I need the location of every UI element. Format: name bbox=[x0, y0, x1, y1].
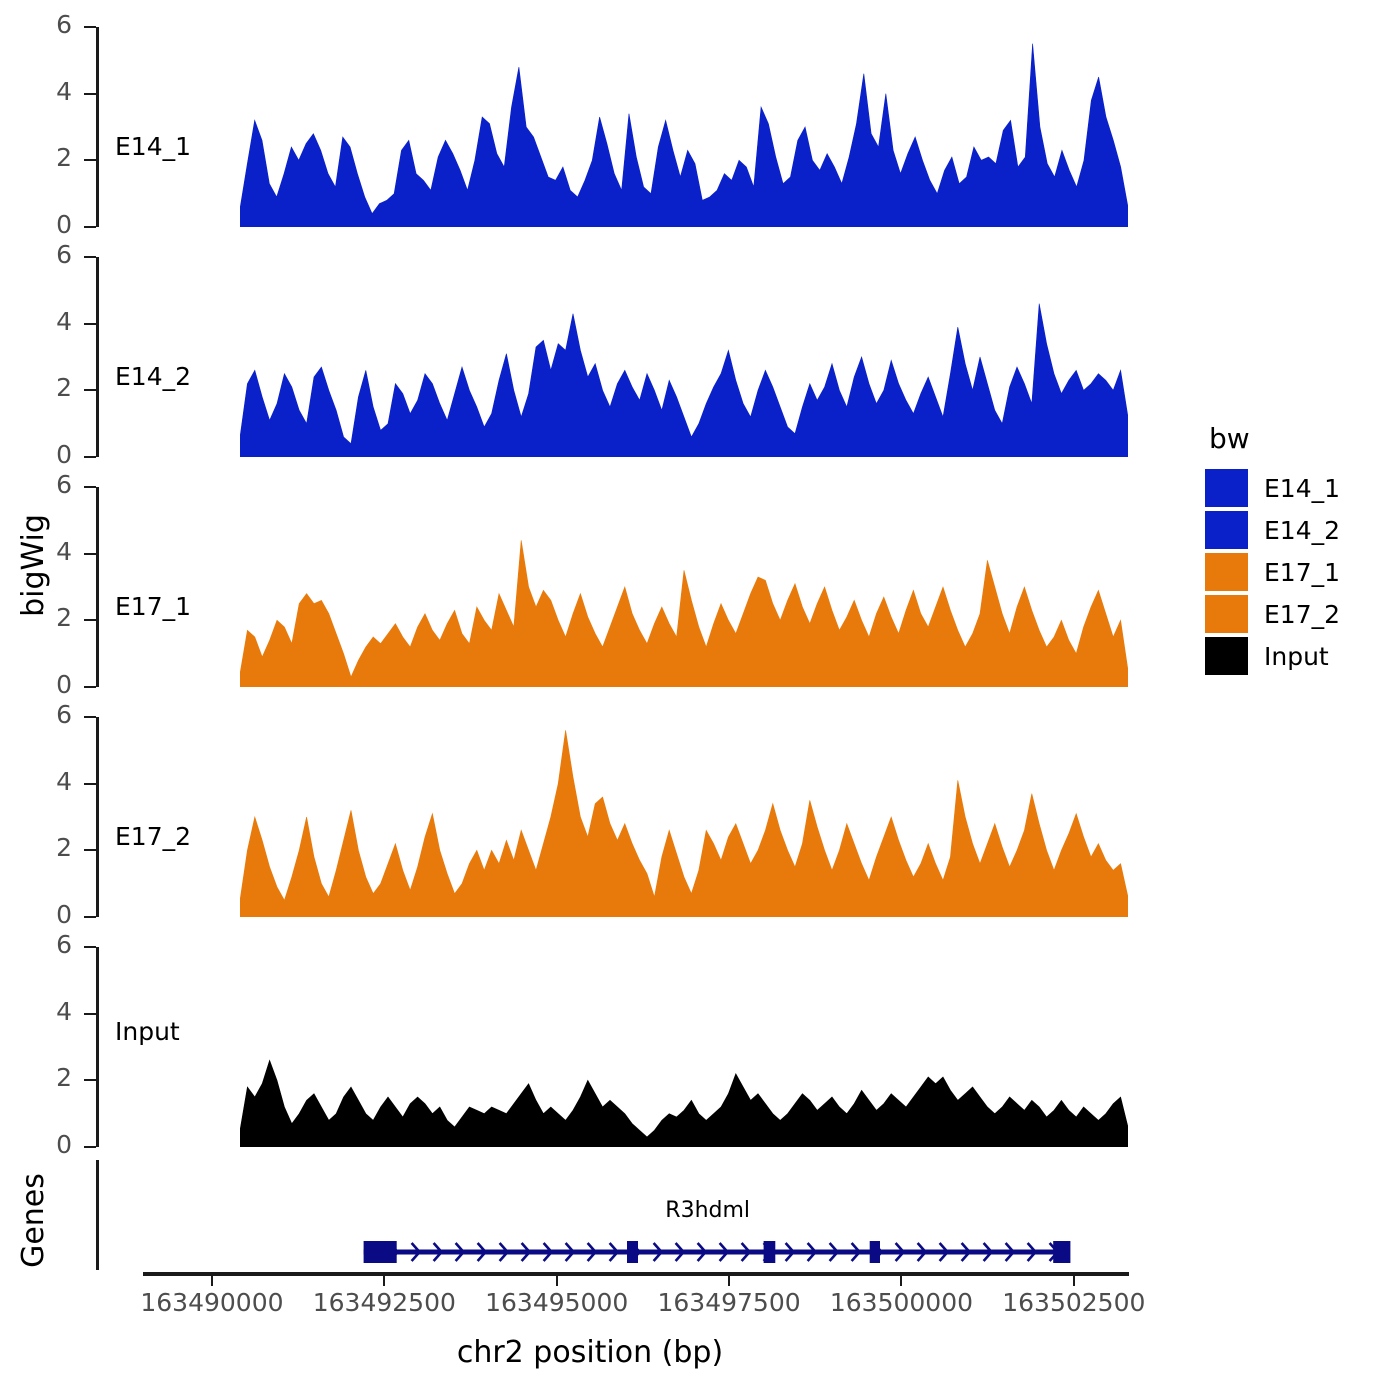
track-label-input: Input bbox=[115, 1017, 180, 1046]
x-tick bbox=[211, 1276, 213, 1286]
y-tick bbox=[84, 389, 96, 391]
y-tick-label: 2 bbox=[8, 145, 72, 170]
y-tick bbox=[84, 619, 96, 621]
legend-swatch bbox=[1205, 553, 1248, 591]
y-axis-line bbox=[96, 27, 99, 227]
y-tick bbox=[84, 1146, 96, 1148]
legend-label: E17_1 bbox=[1264, 560, 1340, 585]
x-tick bbox=[383, 1276, 385, 1286]
y-tick-label: 4 bbox=[8, 999, 72, 1024]
bigwig-panel-e17_2: 0246E17_2 bbox=[0, 717, 1180, 917]
y-tick-label: 2 bbox=[8, 1065, 72, 1090]
y-tick-label: 4 bbox=[8, 309, 72, 334]
x-tick bbox=[1073, 1276, 1075, 1286]
x-tick bbox=[900, 1276, 902, 1286]
y-tick-label: 4 bbox=[8, 79, 72, 104]
y-tick-label: 0 bbox=[8, 1132, 72, 1157]
legend-item-input[interactable]: Input bbox=[1205, 635, 1390, 677]
x-axis-line bbox=[143, 1272, 1129, 1276]
y-tick bbox=[84, 553, 96, 555]
track-label-e17_2: E17_2 bbox=[115, 822, 191, 851]
y-tick-label: 6 bbox=[8, 932, 72, 957]
y-tick bbox=[84, 26, 96, 28]
legend-swatch bbox=[1205, 595, 1248, 633]
y-tick bbox=[84, 256, 96, 258]
gene-track-panel: R3hdml bbox=[0, 1160, 1180, 1290]
coverage-track-e17_2[interactable] bbox=[240, 717, 1128, 917]
legend-swatch bbox=[1205, 511, 1248, 549]
x-tick bbox=[728, 1276, 730, 1286]
legend-label: E17_2 bbox=[1264, 602, 1340, 627]
x-tick bbox=[556, 1276, 558, 1286]
legend-swatch bbox=[1205, 637, 1248, 675]
coverage-track-e17_1[interactable] bbox=[240, 487, 1128, 687]
bigwig-panel-input: 0246Input bbox=[0, 947, 1180, 1147]
legend: bw E14_1E14_2E17_1E17_2Input bbox=[1205, 425, 1390, 677]
legend-item-e14_2[interactable]: E14_2 bbox=[1205, 509, 1390, 551]
y-tick bbox=[84, 783, 96, 785]
track-label-e14_2: E14_2 bbox=[115, 362, 191, 391]
y-axis-line bbox=[96, 487, 99, 687]
y-tick-label: 6 bbox=[8, 702, 72, 727]
y-tick-label: 0 bbox=[8, 442, 72, 467]
y-tick bbox=[84, 159, 96, 161]
y-tick bbox=[84, 1013, 96, 1015]
y-tick-label: 6 bbox=[8, 472, 72, 497]
y-tick bbox=[84, 1079, 96, 1081]
y-axis-line bbox=[96, 257, 99, 457]
y-tick bbox=[84, 93, 96, 95]
bigwig-panel-e17_1: 0246E17_1 bbox=[0, 487, 1180, 687]
legend-swatch bbox=[1205, 469, 1248, 507]
bigwig-panel-e14_1: 0246E14_1 bbox=[0, 27, 1180, 227]
coverage-track-e14_2[interactable] bbox=[240, 257, 1128, 457]
x-tick-label: 163502500 bbox=[954, 1290, 1194, 1315]
y-tick-label: 6 bbox=[8, 242, 72, 267]
bigwig-panel-e14_2: 0246E14_2 bbox=[0, 257, 1180, 457]
legend-item-e14_1[interactable]: E14_1 bbox=[1205, 467, 1390, 509]
y-tick-label: 2 bbox=[8, 375, 72, 400]
y-tick bbox=[84, 226, 96, 228]
legend-title: bw bbox=[1209, 425, 1390, 453]
legend-label: E14_2 bbox=[1264, 518, 1340, 543]
legend-item-e17_1[interactable]: E17_1 bbox=[1205, 551, 1390, 593]
x-axis-title: chr2 position (bp) bbox=[0, 1335, 1180, 1370]
y-tick-label: 0 bbox=[8, 672, 72, 697]
y-tick-label: 2 bbox=[8, 835, 72, 860]
y-tick bbox=[84, 486, 96, 488]
y-axis-line bbox=[96, 947, 99, 1147]
y-tick bbox=[84, 716, 96, 718]
legend-items: E14_1E14_2E17_1E17_2Input bbox=[1205, 467, 1390, 677]
gene-axis-line bbox=[96, 1160, 99, 1270]
y-tick bbox=[84, 323, 96, 325]
y-tick bbox=[84, 686, 96, 688]
track-label-e14_1: E14_1 bbox=[115, 132, 191, 161]
coverage-track-e14_1[interactable] bbox=[240, 27, 1128, 227]
legend-label: Input bbox=[1264, 644, 1329, 669]
y-tick bbox=[84, 946, 96, 948]
y-tick-label: 4 bbox=[8, 539, 72, 564]
y-tick bbox=[84, 916, 96, 918]
y-tick-label: 6 bbox=[8, 12, 72, 37]
gene-model[interactable] bbox=[240, 1160, 1128, 1270]
y-tick-label: 2 bbox=[8, 605, 72, 630]
y-tick bbox=[84, 849, 96, 851]
y-tick bbox=[84, 456, 96, 458]
track-label-e17_1: E17_1 bbox=[115, 592, 191, 621]
coverage-track-input[interactable] bbox=[240, 947, 1128, 1147]
legend-label: E14_1 bbox=[1264, 476, 1340, 501]
y-tick-label: 0 bbox=[8, 902, 72, 927]
legend-item-e17_2[interactable]: E17_2 bbox=[1205, 593, 1390, 635]
y-axis-line bbox=[96, 717, 99, 917]
y-tick-label: 0 bbox=[8, 212, 72, 237]
y-tick-label: 4 bbox=[8, 769, 72, 794]
